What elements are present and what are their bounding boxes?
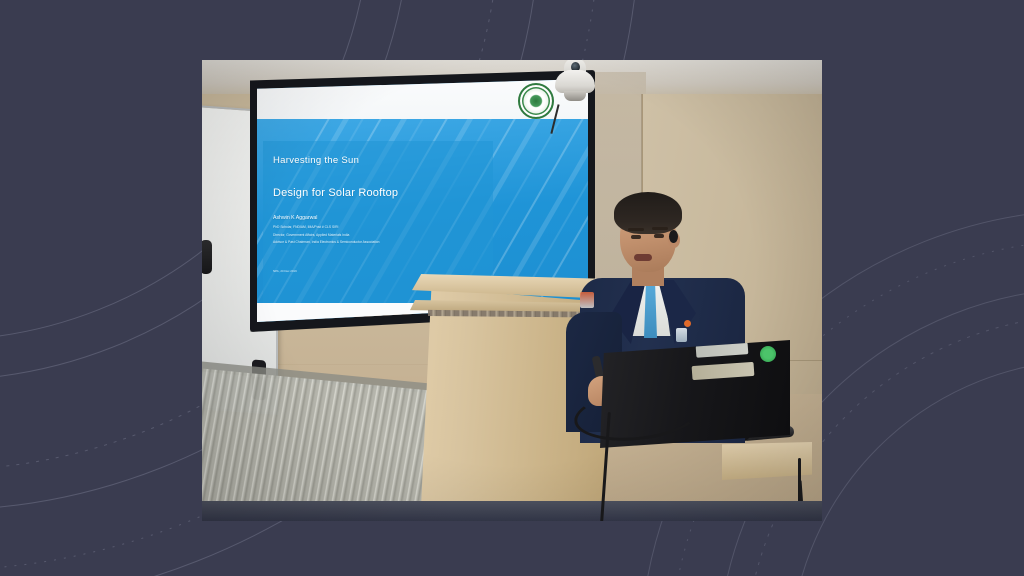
slide-text-block: Harvesting the Sun Design for Solar Roof… [273, 155, 513, 248]
speaker-brow-right [652, 227, 668, 230]
laptop-round-sticker-icon [760, 346, 776, 362]
earpiece-icon [669, 230, 678, 243]
corrugated-wall-panel [202, 368, 446, 521]
slide-date-line: NPA, 20 Dec 2019 [273, 269, 297, 273]
organization-logo-icon [518, 83, 554, 119]
camera-dome [555, 70, 595, 93]
speaker-eye-left [631, 235, 641, 239]
slide-affiliation-1: Director, Government Affairs, Applied Ma… [273, 233, 513, 237]
camera-mount [564, 91, 586, 101]
laptop-sticker [692, 362, 755, 380]
lapel-pin-icon [684, 320, 691, 327]
speaker-brow-left [628, 228, 644, 231]
speaker-hair [614, 192, 682, 234]
speaker-mouth [634, 254, 652, 261]
floor [202, 501, 822, 521]
slide-affiliation-2: Advisor & Past Chairman, India Electroni… [273, 240, 513, 244]
slide-title: Harvesting the Sun [273, 155, 513, 166]
slide-presenter-credentials: PhD Scholar, FNDIAM, IMA/Post # CLS SIRI [273, 225, 513, 229]
speaker-tie [644, 286, 657, 338]
presentation-photo: Harvesting the Sun Design for Solar Roof… [202, 60, 822, 521]
slide-subtitle: Design for Solar Rooftop [273, 187, 513, 199]
ptz-camera [552, 60, 598, 104]
name-badge [676, 328, 687, 342]
slide-presenter-name: Ashwin K Aggarwal [273, 215, 513, 221]
shoulder-accent [580, 292, 594, 308]
wall-speaker [202, 240, 212, 274]
speaker-eye-right [654, 234, 664, 238]
